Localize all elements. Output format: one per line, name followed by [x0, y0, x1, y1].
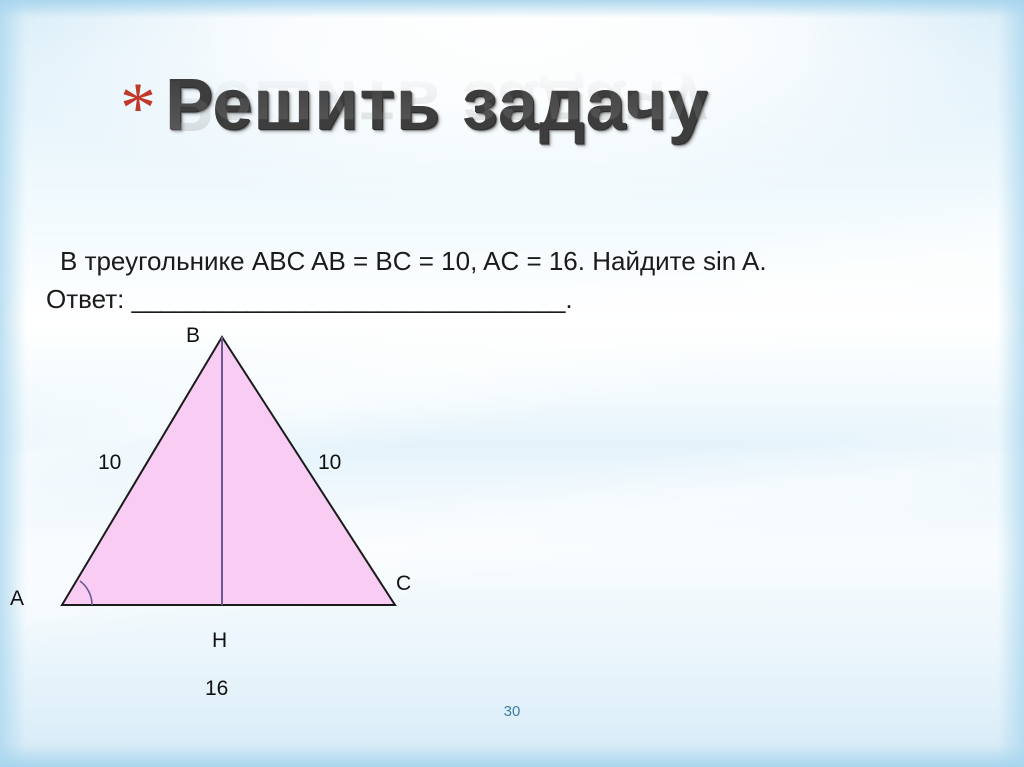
vertex-label-c: C — [396, 573, 411, 594]
problem-statement: В треугольнике ABC AB = BC = 10, AC = 16… — [46, 243, 946, 317]
side-label-ab: 10 — [98, 452, 121, 473]
answer-blank-line: Ответ: ______________________________. — [46, 281, 946, 317]
vertex-label-b: B — [186, 325, 200, 346]
problem-question: В треугольнике ABC AB = BC = 10, AC = 16… — [46, 243, 946, 279]
geometry-figure: B A C H 10 10 16 — [0, 315, 470, 715]
vertex-label-a: A — [10, 588, 24, 609]
page-title: Решить задачу — [165, 62, 709, 148]
slide-edge-right — [998, 0, 1024, 767]
page-number: 30 — [0, 703, 1024, 720]
side-label-ac: 16 — [205, 678, 228, 699]
slide-canvas: * Решить задачу Решить задачу В треуголь… — [0, 0, 1024, 767]
asterisk-icon: * — [120, 72, 156, 144]
slide-edge-top — [0, 0, 1024, 18]
triangle-svg — [0, 315, 470, 715]
slide-title-block: * Решить задачу Решить задачу — [120, 62, 940, 212]
vertex-label-h: H — [212, 630, 227, 651]
side-label-bc: 10 — [318, 452, 341, 473]
slide-edge-bottom — [0, 745, 1024, 767]
